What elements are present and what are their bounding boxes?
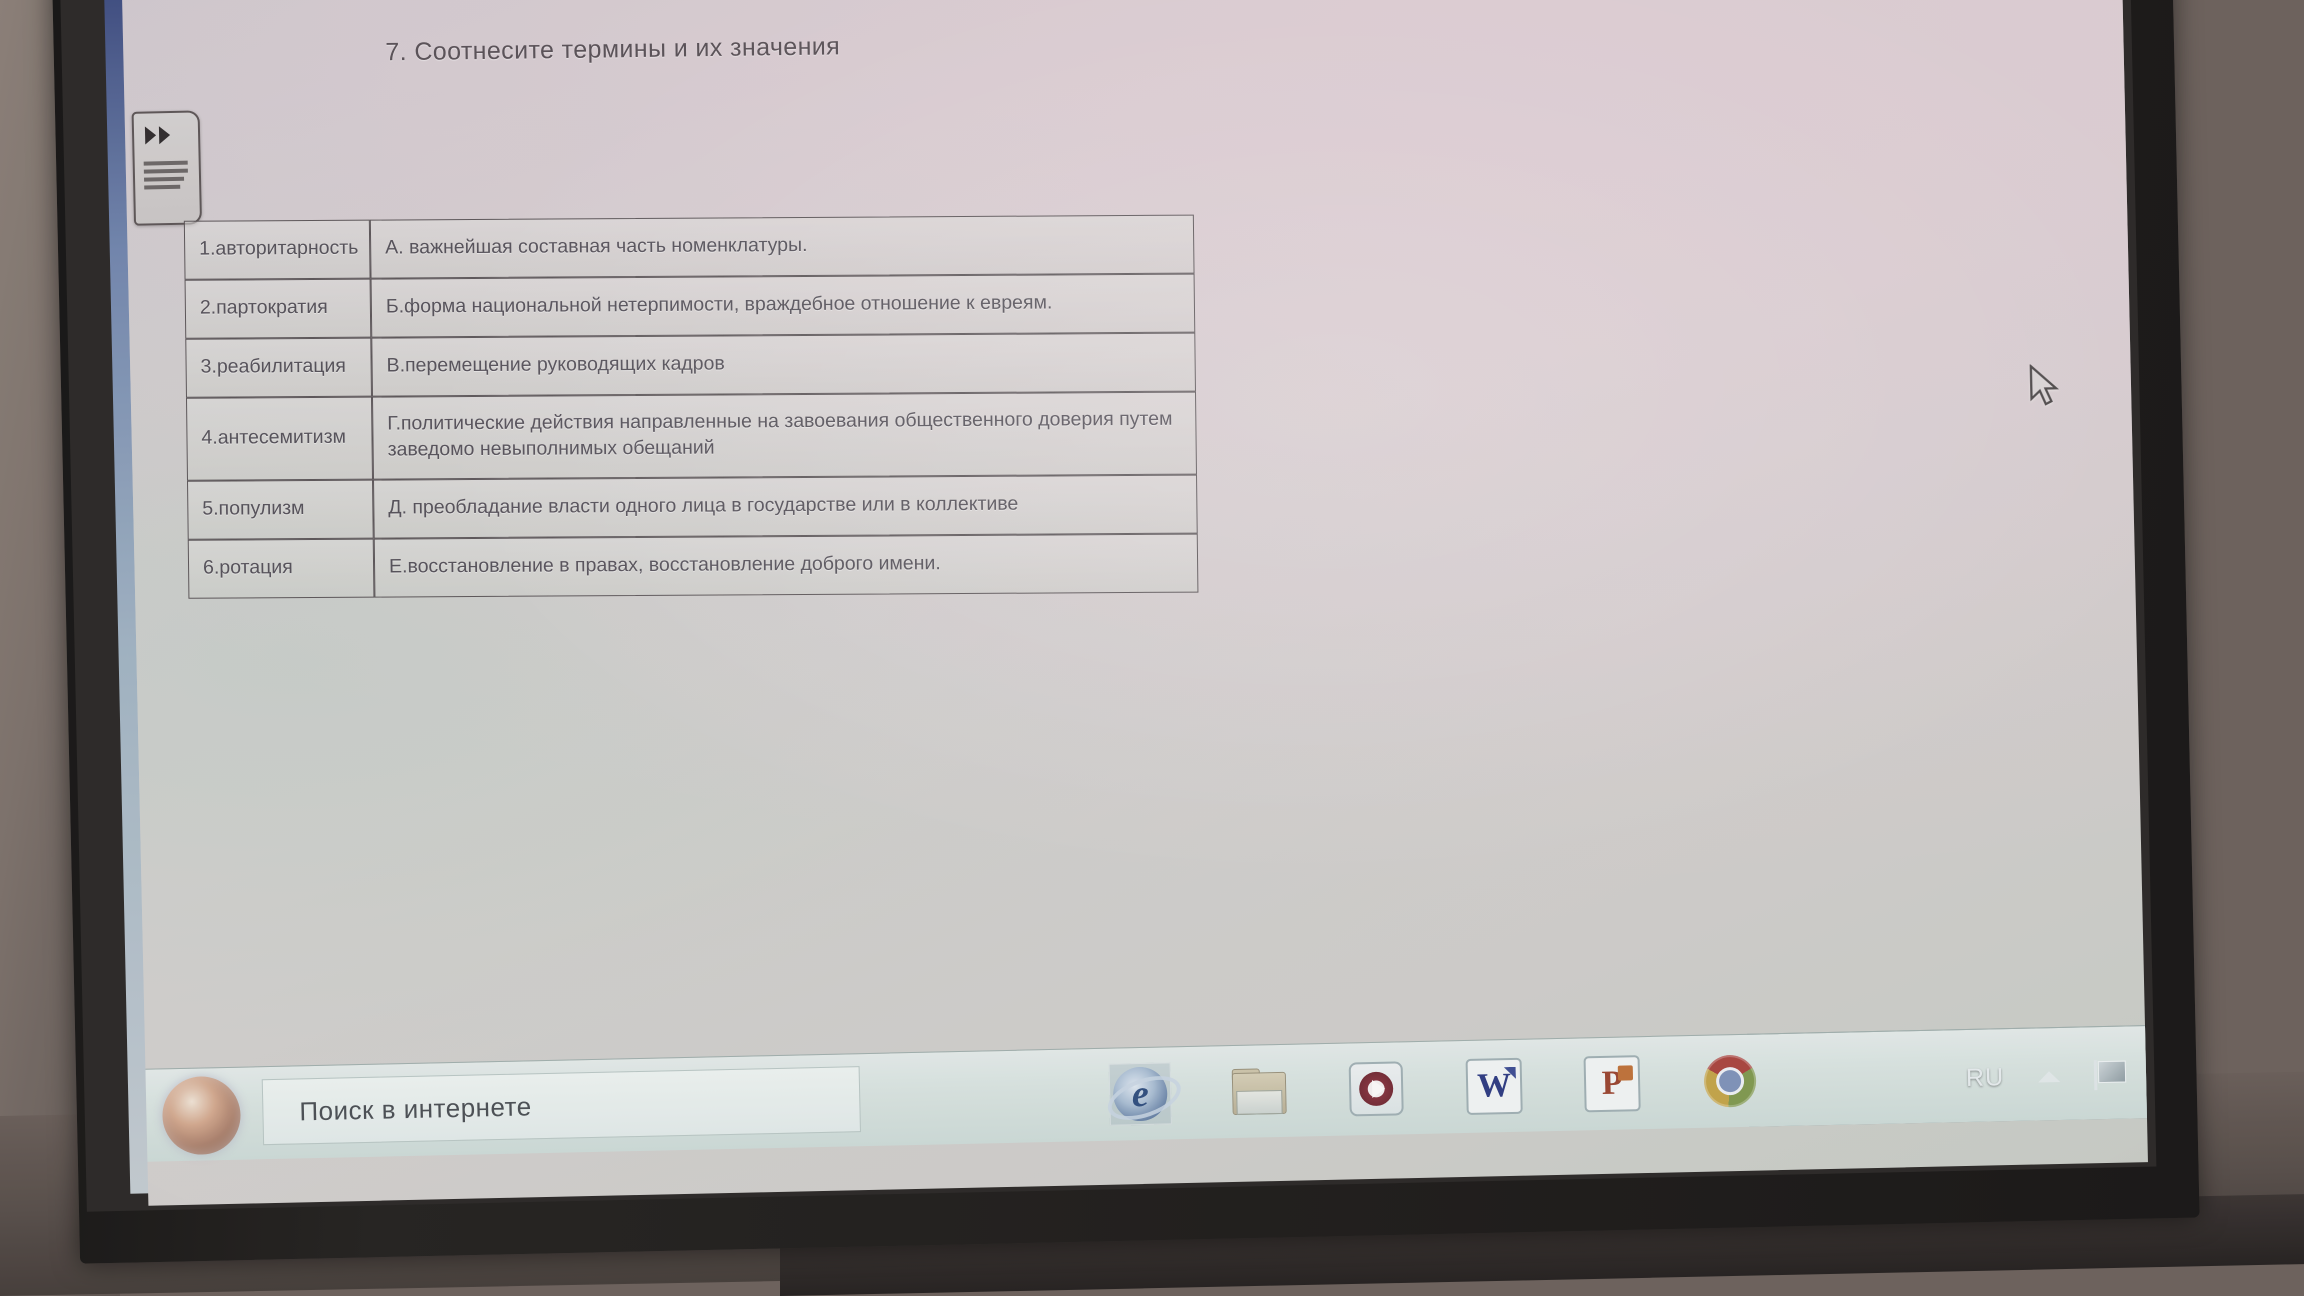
matching-table: 1.авторитарность А. важнейшая составная … <box>184 215 1199 599</box>
taskbar-pinned-icons: e W P <box>1108 1041 1762 1135</box>
table-row: 1.авторитарность А. важнейшая составная … <box>184 215 1195 280</box>
system-tray: RU <box>1965 1045 2128 1109</box>
taskbar-item-file-explorer[interactable] <box>1227 1060 1290 1123</box>
taskbar-item-powerpoint[interactable]: P <box>1580 1052 1643 1115</box>
menu-lines-icon <box>144 157 191 194</box>
taskbar: Поиск в интернете e W <box>143 1025 2148 1162</box>
table-row: 4.антесемитизм Г.политические действия н… <box>186 392 1197 481</box>
taskbar-item-internet-explorer[interactable]: e <box>1109 1062 1172 1125</box>
table-row: 5.популизм Д. преобладание власти одного… <box>187 475 1198 540</box>
definition-cell: В.перемещение руководящих кадров <box>371 333 1196 397</box>
search-input[interactable]: Поиск в интернете <box>262 1066 861 1145</box>
google-chrome-icon <box>1704 1055 1757 1108</box>
microsoft-word-icon: W <box>1466 1058 1523 1115</box>
windows-start-orb-icon[interactable] <box>162 1076 242 1156</box>
whiteboard-photo-scene: 7. Соотнесите термины и их значения 1.ав… <box>0 0 2304 1296</box>
chevron-up-icon[interactable] <box>2038 1070 2060 1081</box>
term-cell: 4.антесемитизм <box>186 397 373 481</box>
taskbar-item-chrome[interactable] <box>1698 1050 1761 1113</box>
taskbar-item-word[interactable]: W <box>1462 1055 1525 1118</box>
definition-cell: Д. преобладание власти одного лица в гос… <box>373 475 1198 539</box>
term-cell: 1.авторитарность <box>184 220 371 280</box>
definition-cell: А. важнейшая составная часть номенклатур… <box>370 215 1195 279</box>
term-cell: 5.популизм <box>187 480 374 540</box>
sidebar-flyout-toggle[interactable] <box>132 110 202 225</box>
page-title: 7. Соотнесите термины и их значения <box>385 32 840 67</box>
language-indicator[interactable]: RU <box>1966 1063 2005 1093</box>
media-player-icon <box>1349 1061 1404 1116</box>
mouse-arrow-cursor <box>2027 364 2062 411</box>
table-row: 2.партократия Б.форма национальной нетер… <box>185 274 1196 339</box>
taskbar-item-media-player[interactable] <box>1345 1057 1408 1120</box>
definition-cell: Е.восстановление в правах, восстановлени… <box>374 534 1199 598</box>
term-cell: 6.ротация <box>188 539 375 599</box>
file-explorer-icon <box>1230 1068 1287 1115</box>
projected-screen: 7. Соотнесите термины и их значения 1.ав… <box>122 0 2148 1206</box>
table-row: 3.реабилитация В.перемещение руководящих… <box>185 333 1196 398</box>
term-cell: 3.реабилитация <box>185 338 372 398</box>
matching-table-wrapper: 1.авторитарность А. важнейшая составная … <box>184 215 1199 599</box>
definition-cell: Б.форма национальной нетерпимости, вражд… <box>371 274 1196 338</box>
search-input-text: Поиск в интернете <box>299 1091 532 1127</box>
microsoft-powerpoint-icon: P <box>1584 1055 1641 1112</box>
table-row: 6.ротация Е.восстановление в правах, вос… <box>188 534 1199 599</box>
internet-explorer-icon: e <box>1113 1066 1168 1121</box>
double-chevron-right-icon <box>145 125 187 146</box>
network-flag-icon[interactable] <box>2094 1059 2129 1090</box>
definition-cell: Г.политические действия направленные на … <box>372 392 1197 480</box>
term-cell: 2.партократия <box>185 279 372 339</box>
